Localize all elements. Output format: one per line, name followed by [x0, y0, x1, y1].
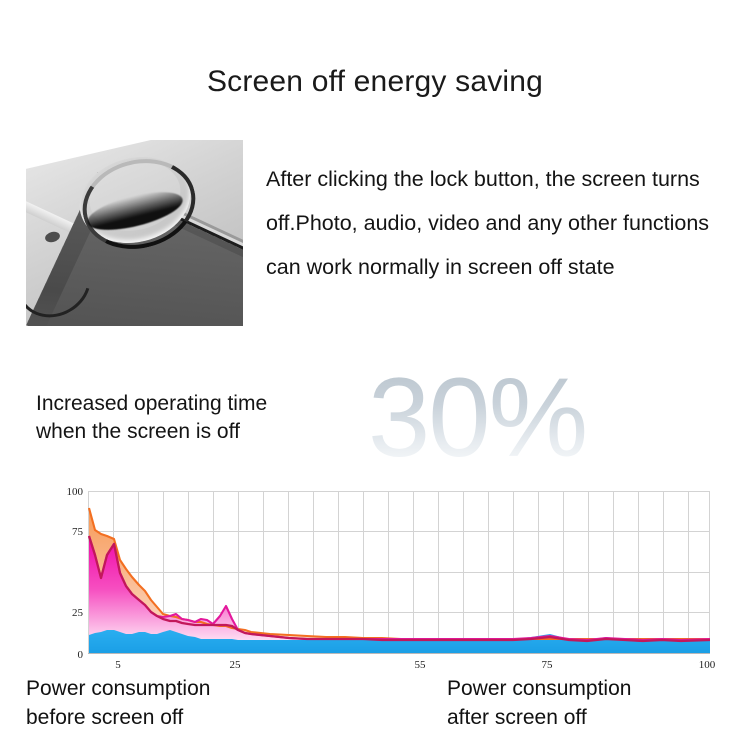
y-tick-100: 100	[67, 486, 84, 498]
feature-description: After clicking the lock button, the scre…	[266, 157, 726, 289]
caption-after-screen-off: Power consumption after screen off	[447, 674, 747, 732]
chart-heading-line-1: Increased operating time	[36, 392, 267, 415]
y-tick-0: 0	[78, 649, 84, 661]
x-tick-100: 100	[699, 659, 716, 671]
x-tick-25: 25	[230, 659, 242, 671]
y-tick-75: 75	[72, 526, 84, 538]
power-consumption-chart: 100 75 25 0 5 25 55 75 100	[50, 483, 750, 673]
caption-before-line-2: before screen off	[26, 706, 183, 729]
chart-heading-line-2: when the screen is off	[36, 420, 240, 443]
caption-after-line-2: after screen off	[447, 706, 587, 729]
chart-svg: 100 75 25 0 5 25 55 75 100	[50, 483, 750, 673]
chart-heading: Increased operating time when the screen…	[36, 390, 376, 446]
caption-before-line-1: Power consumption	[26, 677, 210, 700]
y-tick-25: 25	[72, 607, 84, 619]
page-title: Screen off energy saving	[0, 64, 750, 100]
caption-after-line-1: Power consumption	[447, 677, 631, 700]
lock-button-photo	[26, 140, 243, 326]
x-tick-75: 75	[542, 659, 554, 671]
x-tick-55: 55	[415, 659, 427, 671]
caption-before-screen-off: Power consumption before screen off	[26, 674, 326, 732]
x-tick-5: 5	[115, 659, 121, 671]
percent-watermark: 30%	[368, 362, 586, 474]
